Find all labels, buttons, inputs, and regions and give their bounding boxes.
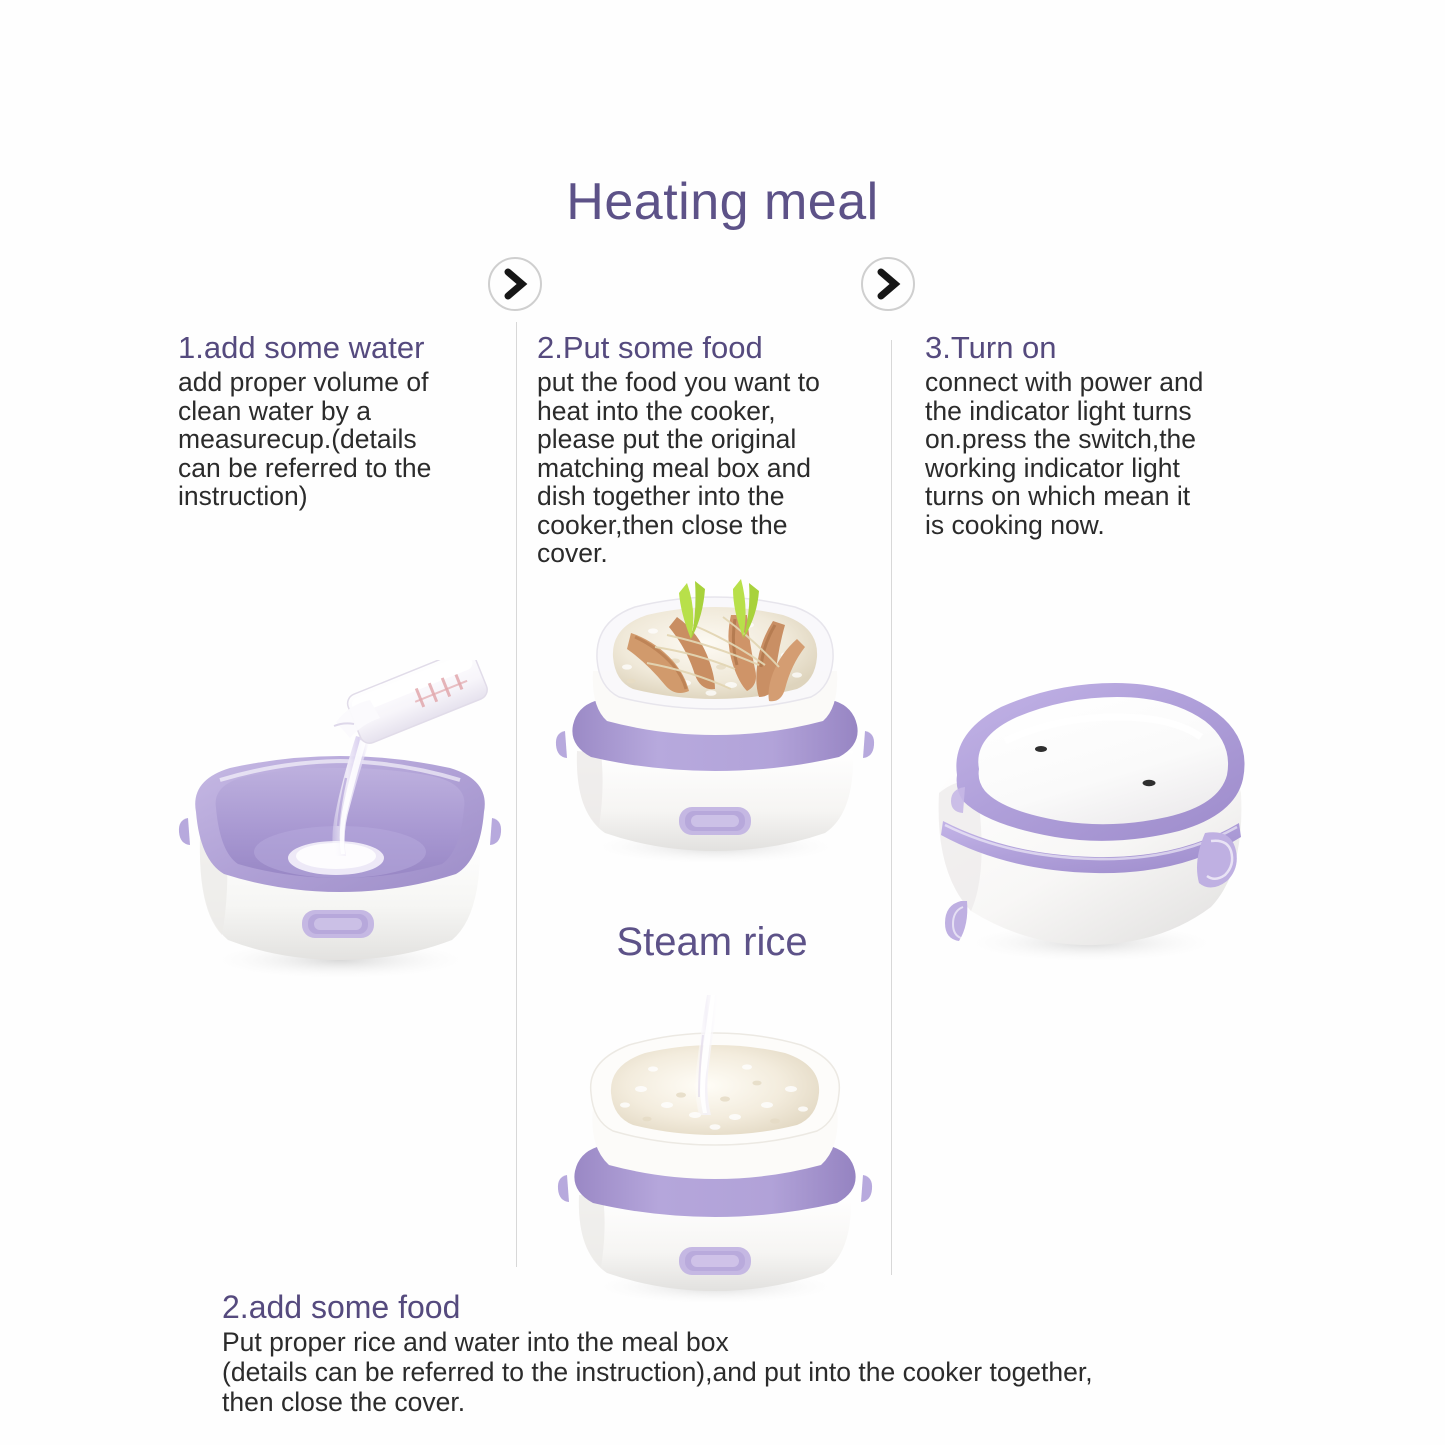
product-photo-steam-rice (535, 995, 895, 1315)
step-2-line: dish together into the (537, 482, 887, 511)
steam-rice-title: Steam rice (537, 918, 887, 966)
infographic-page: Heating meal 1.add some water add proper… (0, 0, 1445, 1445)
step-1-line: instruction) (178, 482, 508, 511)
step-2-body: put the food you want to heat into the c… (537, 368, 887, 568)
step-2-heading: 2.Put some food (537, 330, 763, 366)
step-2-line: cooker,then close the (537, 511, 887, 540)
step-3-line: is cooking now. (925, 511, 1265, 540)
step-2-line: matching meal box and (537, 454, 887, 483)
chevron-right-icon (861, 257, 915, 311)
step-3-line: turns on which mean it (925, 482, 1265, 511)
step-3-line: the indicator light turns (925, 397, 1265, 426)
bottom-caption-line: (details can be referred to the instruct… (222, 1357, 1093, 1387)
step-2-line: please put the original (537, 425, 887, 454)
step-3-line: on.press the switch,the (925, 425, 1265, 454)
step-1-heading: 1.add some water (178, 330, 424, 366)
step-1-body: add proper volume of clean water by a me… (178, 368, 508, 511)
step-2-line: heat into the cooker, (537, 397, 887, 426)
bottom-caption-line: then close the cover. (222, 1387, 1093, 1417)
page-title: Heating meal (0, 172, 1445, 232)
chevron-right-icon (488, 257, 542, 311)
step-1-line: can be referred to the (178, 454, 508, 483)
step-1-line: clean water by a (178, 397, 508, 426)
step-3-line: working indicator light (925, 454, 1265, 483)
bottom-caption-line: Put proper rice and water into the meal … (222, 1327, 1093, 1357)
step-1-line: measurecup.(details (178, 425, 508, 454)
product-photo-turn-on (905, 625, 1270, 970)
bottom-caption-body: Put proper rice and water into the meal … (222, 1327, 1093, 1417)
step-3-body: connect with power and the indicator lig… (925, 368, 1265, 539)
step-3-line: connect with power and (925, 368, 1265, 397)
product-photo-add-water (160, 660, 520, 990)
step-1-line: add proper volume of (178, 368, 508, 397)
product-photo-put-food (535, 555, 895, 875)
bottom-caption-heading: 2.add some food (222, 1288, 460, 1326)
step-3-heading: 3.Turn on (925, 330, 1057, 366)
step-2-line: put the food you want to (537, 368, 887, 397)
